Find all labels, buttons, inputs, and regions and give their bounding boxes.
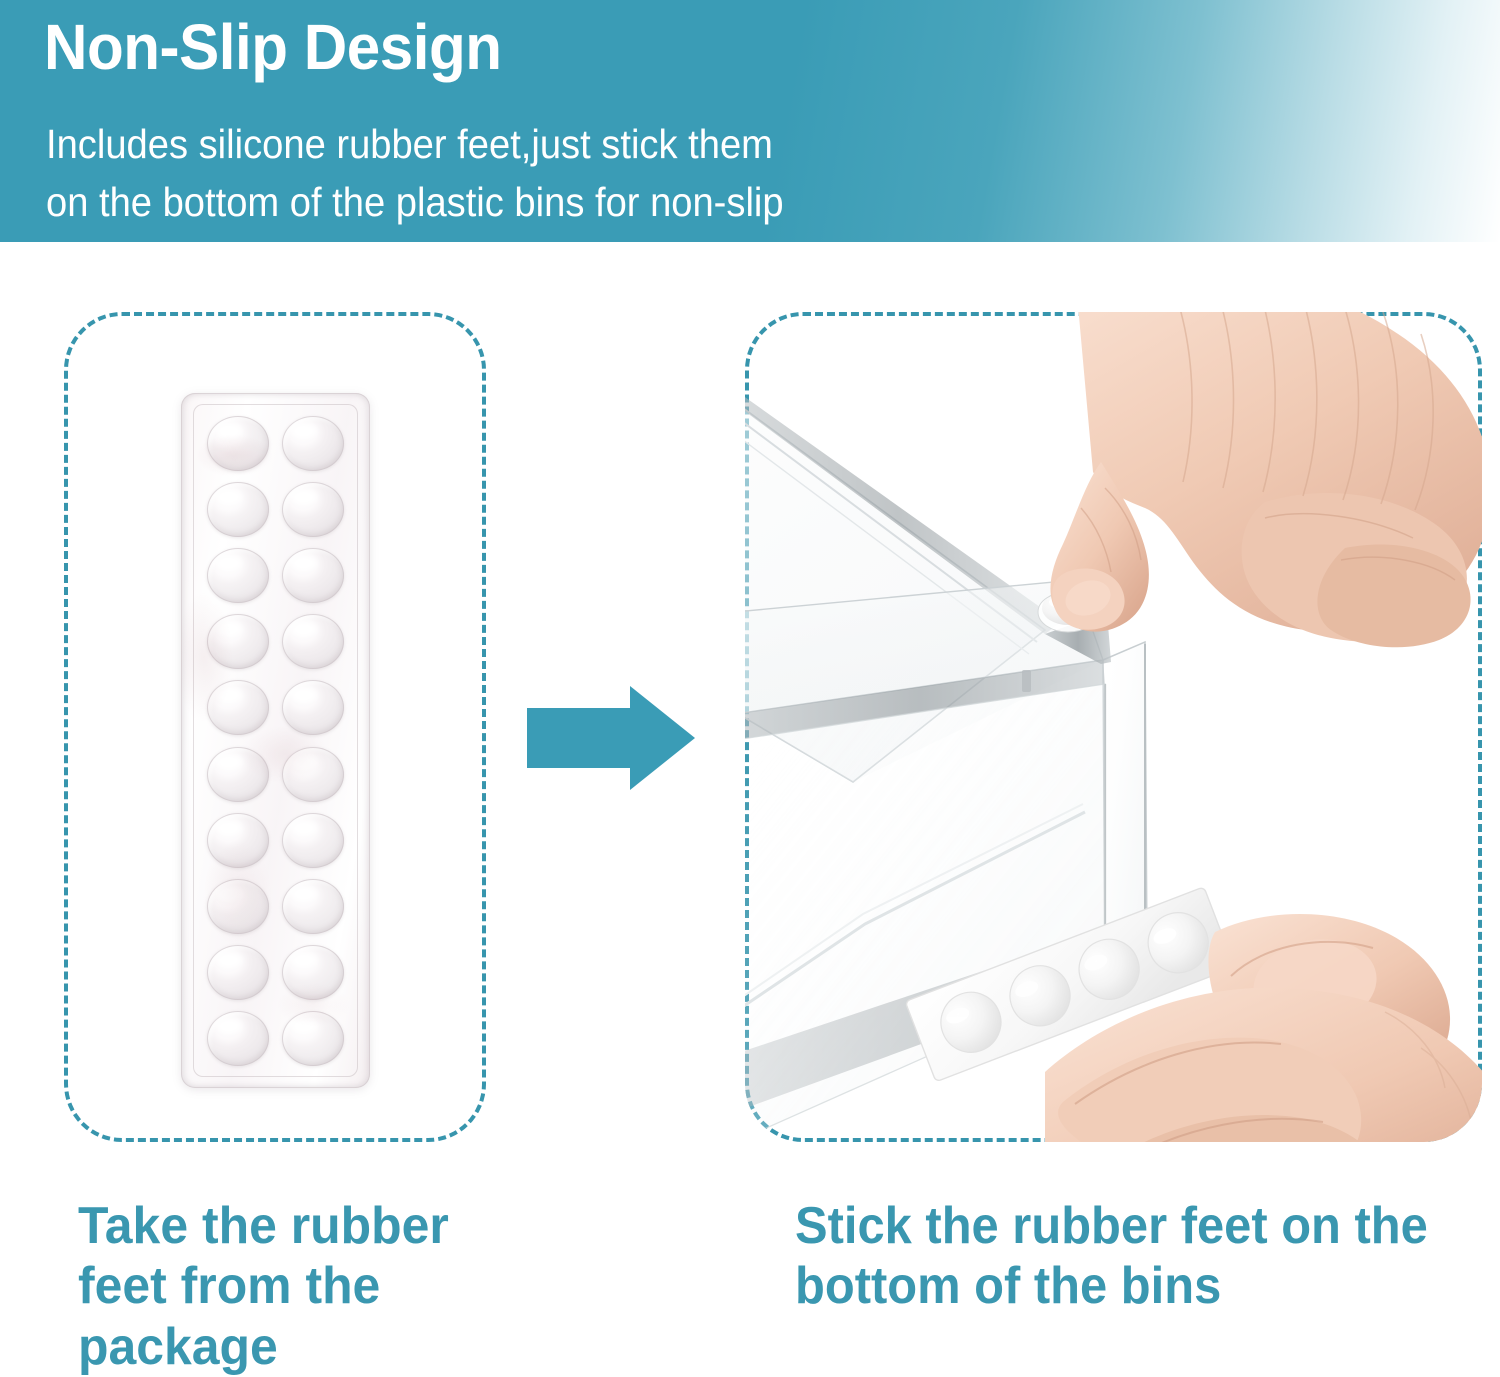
- rubber-foot: [276, 674, 351, 740]
- bin-latch-tab: [1022, 670, 1031, 692]
- left-panel-caption: Take the rubber feet from the package: [78, 1196, 529, 1377]
- rubber-foot: [276, 873, 351, 939]
- header-subtitle-line-2: on the bottom of the plastic bins for no…: [46, 173, 784, 231]
- right-panel-caption: Stick the rubber feet on the bottom of t…: [795, 1196, 1434, 1317]
- rubber-foot: [276, 542, 351, 608]
- rubber-foot: [276, 1005, 351, 1071]
- rubber-foot: [276, 476, 351, 542]
- page-title: Non-Slip Design: [44, 11, 502, 85]
- rubber-foot: [201, 1005, 276, 1071]
- rubber-foot: [201, 476, 276, 542]
- hand-pressing-foot: [1050, 312, 1482, 647]
- header-subtitle: Includes silicone rubber feet,just stick…: [46, 115, 784, 231]
- arrow-right-icon: [527, 686, 695, 790]
- clear-bin-illustration: [745, 312, 1482, 1142]
- rubber-foot: [201, 410, 276, 476]
- rubber-foot: [201, 608, 276, 674]
- rubber-foot: [201, 873, 276, 939]
- header-subtitle-line-1: Includes silicone rubber feet,just stick…: [46, 115, 784, 173]
- rubber-foot: [201, 740, 276, 806]
- header-banner: Non-Slip Design Includes silicone rubber…: [0, 0, 1500, 242]
- blister-pack-image: [181, 393, 370, 1088]
- bin-scene: [745, 312, 1482, 1142]
- rubber-feet-grid: [201, 410, 350, 1071]
- rubber-foot: [201, 542, 276, 608]
- rubber-foot: [276, 608, 351, 674]
- rubber-foot: [201, 807, 276, 873]
- rubber-foot: [201, 674, 276, 740]
- rubber-foot: [276, 410, 351, 476]
- rubber-foot: [201, 939, 276, 1005]
- rubber-foot: [276, 807, 351, 873]
- rubber-foot: [276, 740, 351, 806]
- rubber-foot: [276, 939, 351, 1005]
